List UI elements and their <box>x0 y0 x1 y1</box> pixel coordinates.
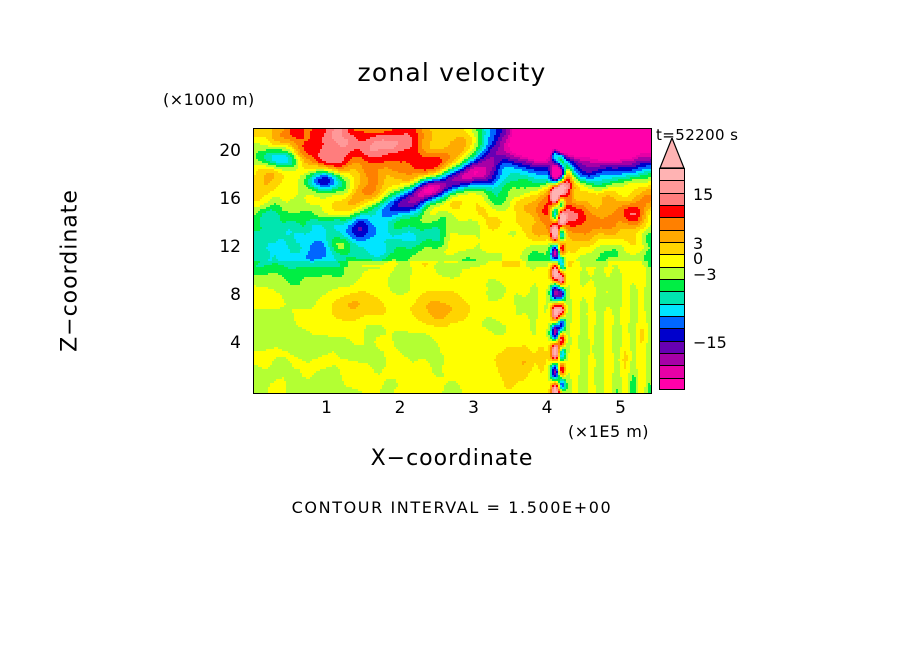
colorbar-arrow-icon <box>659 138 685 169</box>
x-tick-label: 1 <box>307 398 347 418</box>
y-tick-label: 8 <box>201 285 241 305</box>
page-title: zonal velocity <box>0 58 904 87</box>
colorbar-band <box>659 217 685 229</box>
y-tick-label: 4 <box>201 333 241 353</box>
y-tick-label: 20 <box>201 141 241 161</box>
colorbar-band <box>659 254 685 266</box>
colorbar-tick-label: −15 <box>693 333 727 352</box>
colorbar-band <box>659 341 685 353</box>
colorbar-band <box>659 180 685 192</box>
contour-plot-area <box>253 128 652 394</box>
colorbar-band <box>659 304 685 316</box>
y-tick-label: 12 <box>201 237 241 257</box>
contour-field <box>254 129 651 393</box>
colorbar-band <box>659 168 685 180</box>
colorbar-band <box>659 378 685 390</box>
x-tick-label: 5 <box>601 398 641 418</box>
colorbar: 1530−3−15 <box>659 168 685 390</box>
x-tick-label: 3 <box>454 398 494 418</box>
colorbar-band <box>659 193 685 205</box>
colorbar-band <box>659 205 685 217</box>
y-axis-units: (×1000 m) <box>163 90 255 109</box>
figure-root: zonal velocity (×1000 m) (×1E5 m) t=5220… <box>0 0 904 654</box>
x-tick-label: 2 <box>380 398 420 418</box>
x-tick-label: 4 <box>527 398 567 418</box>
x-axis-title: X−coordinate <box>0 446 904 471</box>
colorbar-band <box>659 328 685 340</box>
colorbar-band <box>659 242 685 254</box>
colorbar-band <box>659 365 685 377</box>
colorbar-tick-label: −3 <box>693 265 717 284</box>
colorbar-band <box>659 353 685 365</box>
colorbar-band <box>659 279 685 291</box>
y-axis-title: Z−coordinate <box>58 141 83 401</box>
colorbar-band <box>659 316 685 328</box>
contour-interval-note: CONTOUR INTERVAL = 1.500E+00 <box>0 498 904 517</box>
colorbar-band <box>659 291 685 303</box>
colorbar-tick-label: 15 <box>693 185 713 204</box>
x-axis-units: (×1E5 m) <box>568 422 649 441</box>
colorbar-band <box>659 230 685 242</box>
colorbar-band <box>659 267 685 279</box>
y-tick-label: 16 <box>201 189 241 209</box>
